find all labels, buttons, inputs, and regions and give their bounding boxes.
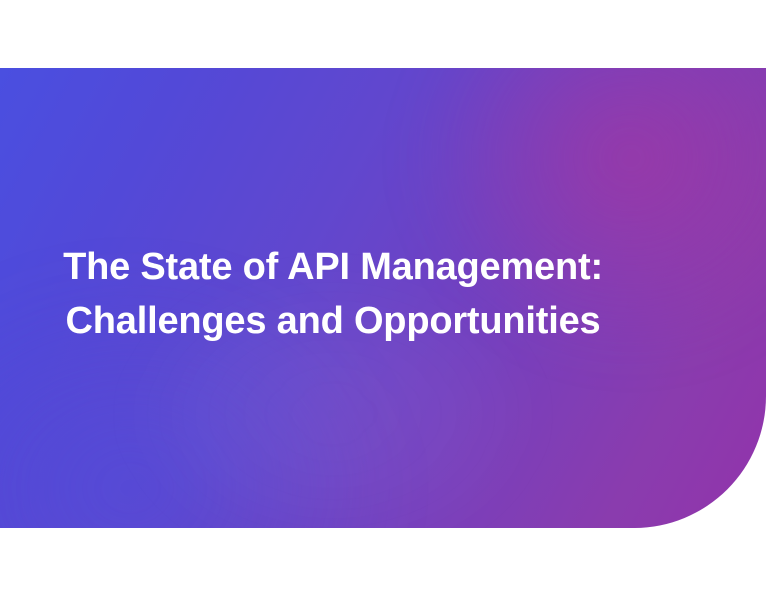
slide-canvas: The State of API Management: Challenges … [0, 0, 766, 600]
slide-title: The State of API Management: Challenges … [0, 240, 666, 348]
hero-gradient-banner: The State of API Management: Challenges … [0, 68, 766, 528]
slide-title-line-1: The State of API Management: [63, 246, 603, 288]
slide-title-line-2: Challenges and Opportunities [66, 300, 601, 342]
